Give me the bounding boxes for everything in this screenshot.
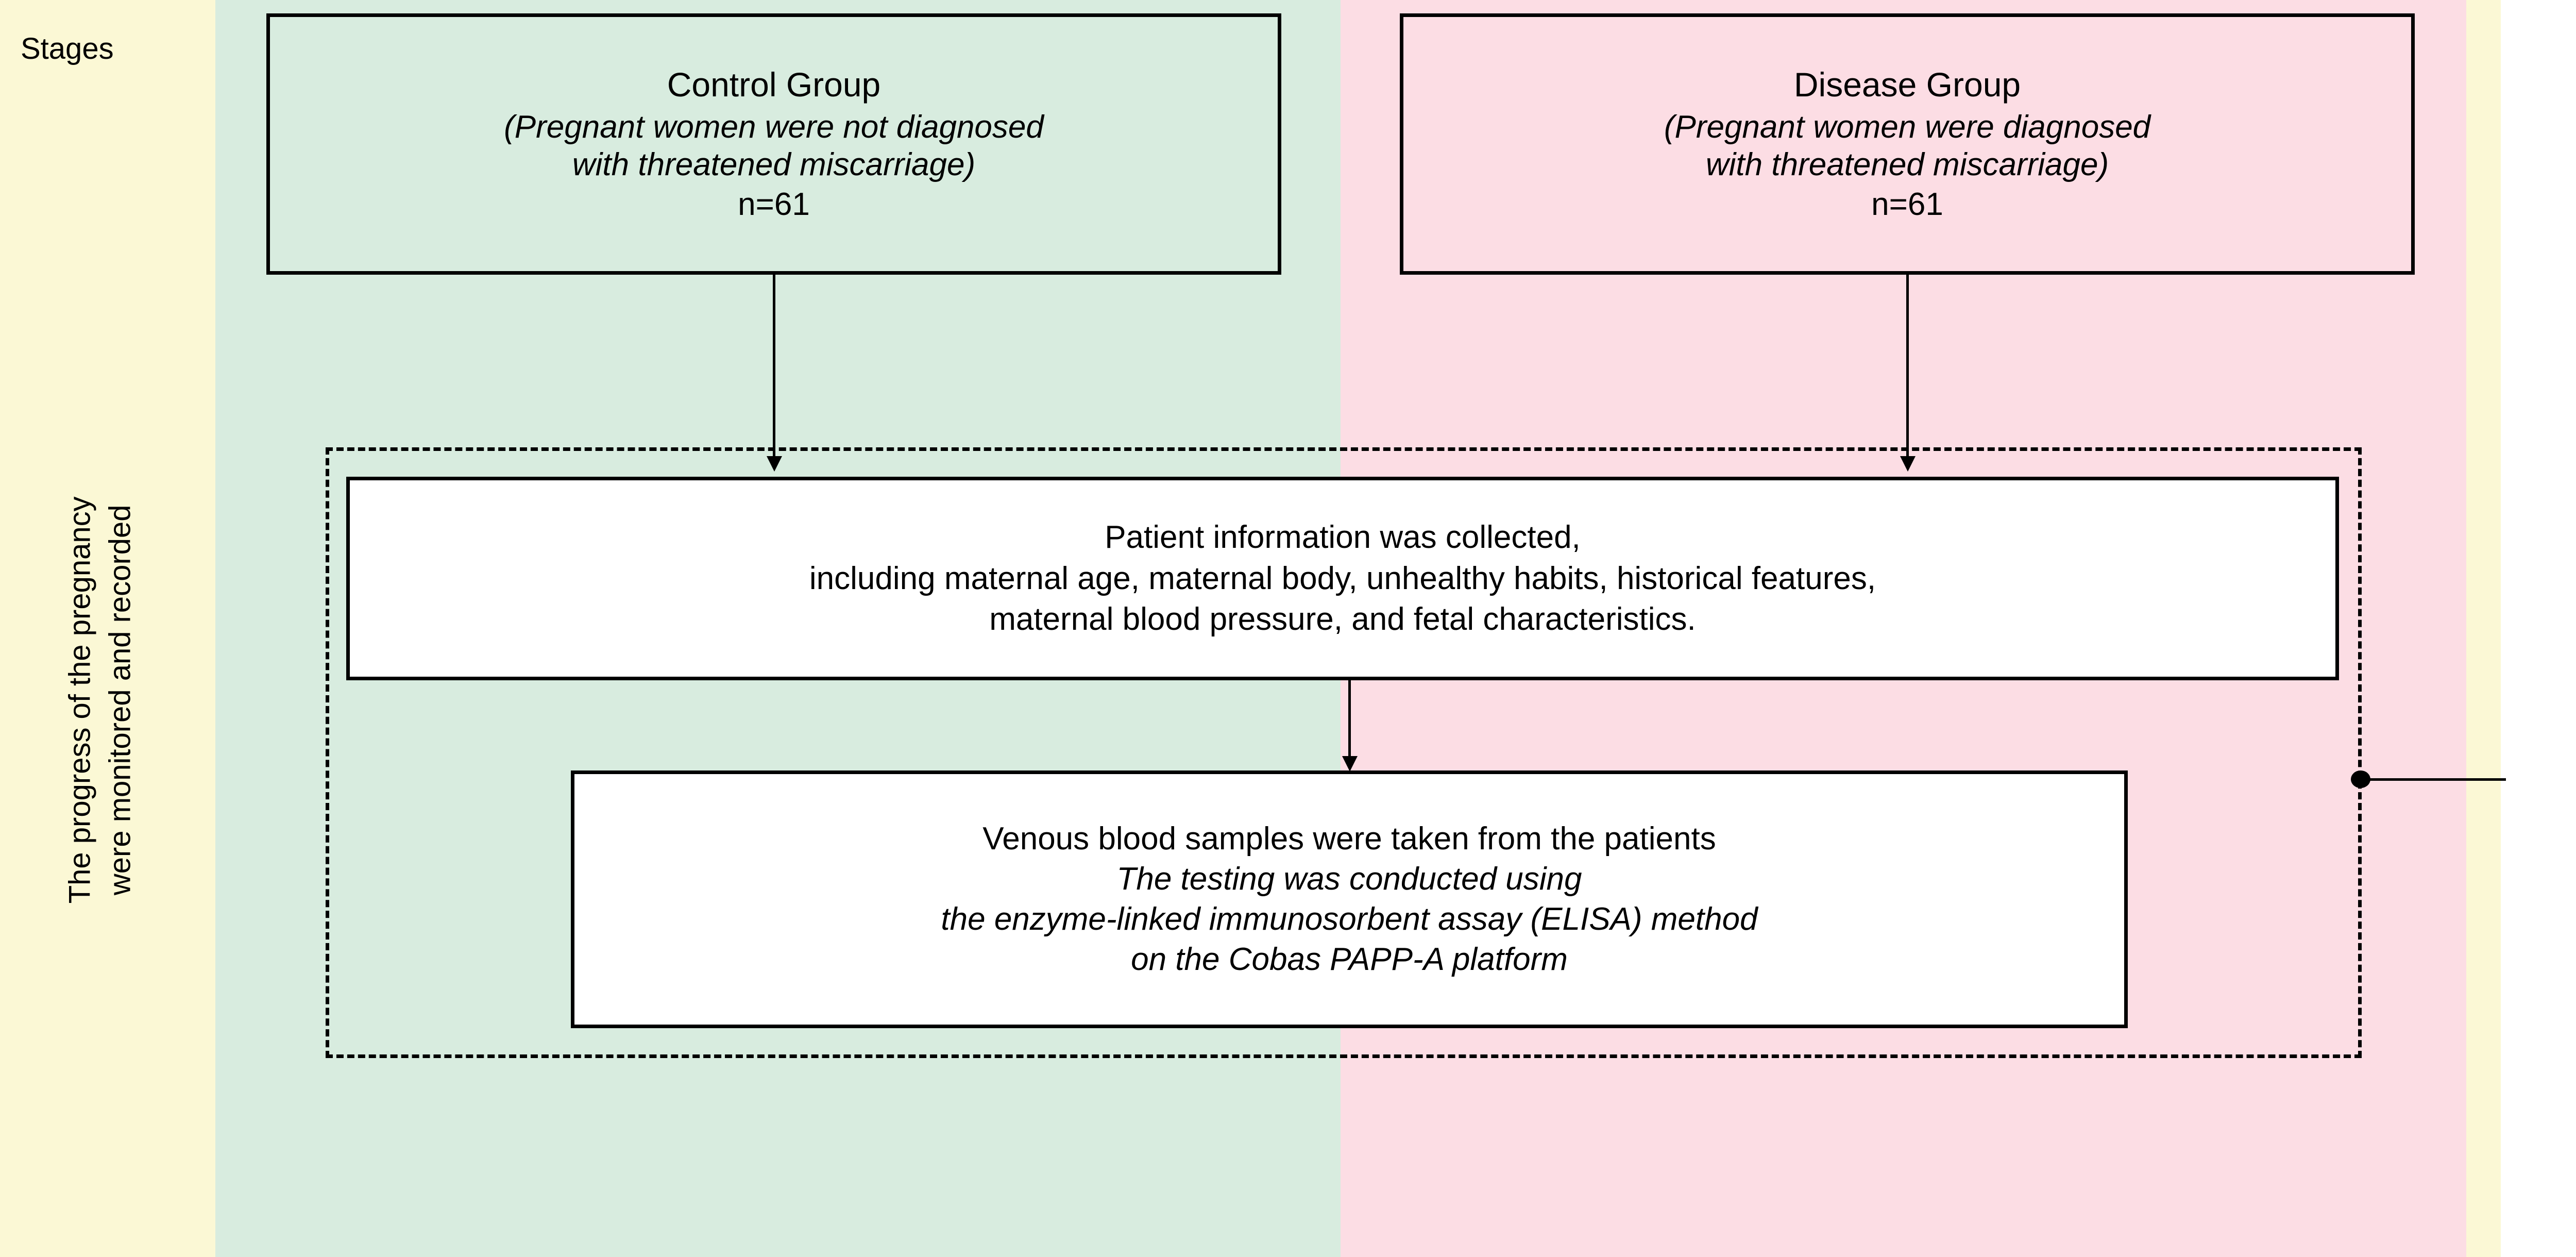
arrow-control-to-info [773, 275, 775, 460]
background-band-white-analyzed [2501, 0, 2576, 1257]
control-group-box: Control Group (Pregnant women were not d… [266, 13, 1281, 275]
analyzed-column-label: Analyzed [2501, 32, 2576, 66]
blood-sample-line-1: Venous blood samples were taken from the… [982, 819, 1716, 859]
control-group-title: Control Group [667, 65, 881, 105]
pregnancy-progress-line-1: The progress of the pregnancy [60, 349, 100, 1050]
analysis-annotation-line-4: were analyzed [2504, 779, 2576, 816]
arrow-head-info-to-blood [1342, 756, 1358, 772]
analysis-annotation: The PAPP-A levels and risk factors of th… [2504, 666, 2576, 817]
arrow-info-to-blood [1348, 680, 1351, 760]
background-band-yellow-right [2466, 0, 2501, 1257]
analysis-connector-line [2362, 778, 2506, 781]
analysis-annotation-line-1: The PAPP-A levels [2504, 666, 2576, 703]
control-group-sample-size: n=61 [738, 186, 810, 223]
patient-information-line-2: including maternal age, maternal body, u… [809, 558, 1876, 599]
disease-group-subtitle-line-2: with threatened miscarriage) [1706, 146, 2109, 183]
disease-group-sample-size: n=61 [1871, 186, 1943, 223]
pregnancy-progress-vertical-label: The progress of the pregnancy were monit… [60, 349, 141, 1050]
patient-information-line-1: Patient information was collected, [1105, 517, 1581, 558]
disease-group-title: Disease Group [1794, 65, 2021, 105]
blood-sample-line-2: The testing was conducted using [1117, 859, 1582, 899]
analysis-annotation-line-3: of the patients [2504, 741, 2576, 779]
arrow-disease-to-info [1906, 275, 1909, 460]
stages-column-label: Stages [21, 32, 196, 66]
control-group-subtitle-line-2: with threatened miscarriage) [572, 146, 975, 183]
patient-information-line-3: maternal blood pressure, and fetal chara… [989, 599, 1696, 640]
disease-group-subtitle-line-1: (Pregnant women were diagnosed [1664, 108, 2150, 146]
patient-information-box: Patient information was collected, inclu… [346, 477, 2339, 680]
pregnancy-progress-line-2: were monitored and recorded [100, 349, 141, 1050]
disease-group-box: Disease Group (Pregnant women were diagn… [1400, 13, 2415, 275]
analysis-annotation-line-2: and risk factors [2504, 703, 2576, 741]
analysis-connector-dot [2351, 770, 2370, 788]
control-group-subtitle-line-1: (Pregnant women were not diagnosed [504, 108, 1044, 146]
blood-sample-line-3: the enzyme-linked immunosorbent assay (E… [941, 899, 1757, 940]
blood-sample-line-4: on the Cobas PAPP-A platform [1131, 940, 1568, 980]
blood-sample-box: Venous blood samples were taken from the… [571, 770, 2128, 1028]
